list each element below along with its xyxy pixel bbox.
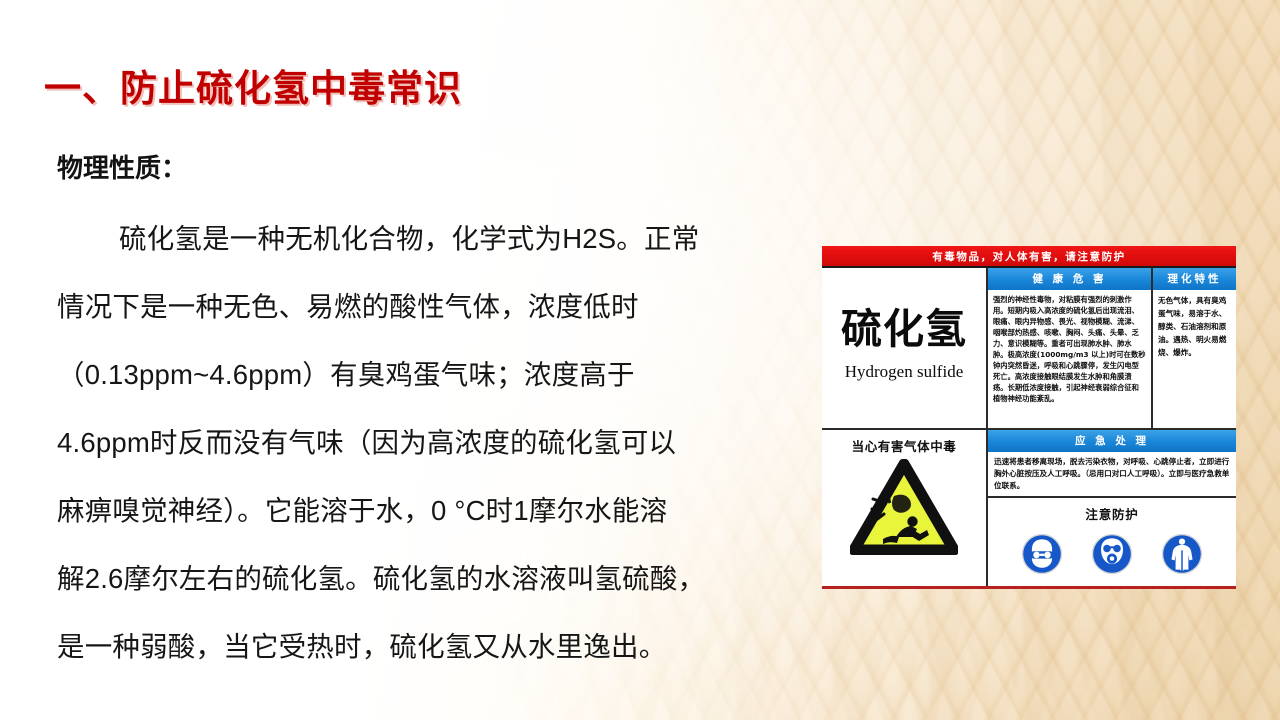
- health-hazard-cell: 健 康 危 害 强烈的神经性毒物，对粘膜有强烈的刺激作用。短期内吸入高浓度的硫化…: [988, 268, 1153, 428]
- presentation-slide: 一、防止硫化氢中毒常识 物理性质： 硫化氢是一种无机化合物，化学式为H2S。正常…: [0, 0, 1280, 720]
- protective-suit-icon: [1160, 532, 1204, 576]
- goggles-icon: [1020, 532, 1064, 576]
- paragraph-line: 麻痹嗅觉神经）。它能溶于水，0 °C时1摩尔水能溶: [57, 477, 817, 545]
- physical-properties-header: 理化特性: [1153, 268, 1236, 290]
- paragraph-line: 硫化氢是一种无机化合物，化学式为H2S。正常: [57, 205, 817, 273]
- physical-properties-cell: 理化特性 无色气体，具有臭鸡蛋气味，易溶于水、醇类、石油溶剂和原油。遇热、明火易…: [1153, 268, 1236, 428]
- paragraph-line: 情况下是一种无色、易燃的酸性气体，浓度低时: [57, 273, 817, 341]
- protection-block: 注意防护: [988, 498, 1236, 586]
- protection-title: 注意防护: [1085, 504, 1138, 523]
- health-hazard-text: 强烈的神经性毒物，对粘膜有强烈的刺激作用。短期内吸入高浓度的硫化氢后出现流泪、眼…: [988, 290, 1151, 429]
- sign-info-row: 健 康 危 害 强烈的神经性毒物，对粘膜有强烈的刺激作用。短期内吸入高浓度的硫化…: [988, 268, 1236, 430]
- toxic-gas-warning-triangle-icon: [850, 459, 958, 555]
- protection-icons: [1020, 532, 1204, 576]
- emergency-text: 迅速将患者移离现场，脱去污染衣物，对呼吸、心跳停止者，立即进行胸外心脏按压及人工…: [988, 452, 1236, 499]
- substance-name-cn: 硫化氢: [841, 308, 967, 351]
- warning-label: 当心有害气体中毒: [852, 436, 957, 455]
- health-hazard-header: 健 康 危 害: [988, 268, 1151, 290]
- body-paragraph: 硫化氢是一种无机化合物，化学式为H2S。正常 情况下是一种无色、易燃的酸性气体，…: [57, 205, 817, 681]
- sign-left-column: 硫化氢 Hydrogen sulfide 当心有害气体中毒: [822, 268, 988, 586]
- paragraph-line: （0.13ppm~4.6ppm）有臭鸡蛋气味；浓度高于: [57, 341, 817, 409]
- substance-name-en: Hydrogen sulfide: [845, 362, 964, 382]
- paragraph-line: 是一种弱酸，当它受热时，硫化氢又从水里逸出。: [57, 613, 817, 681]
- paragraph-line: 解2.6摩尔左右的硫化氢。硫化氢的水溶液叫氢硫酸，: [57, 545, 817, 613]
- warning-cell: 当心有害气体中毒: [822, 430, 986, 586]
- page-title: 一、防止硫化氢中毒常识: [44, 58, 462, 112]
- sign-body: 硫化氢 Hydrogen sulfide 当心有害气体中毒: [822, 266, 1236, 586]
- sign-right-column: 健 康 危 害 强烈的神经性毒物，对粘膜有强烈的刺激作用。短期内吸入高浓度的硫化…: [988, 268, 1236, 586]
- gas-mask-icon: [1090, 532, 1134, 576]
- hydrogen-sulfide-safety-sign: 有毒物品，对人体有害，请注意防护 硫化氢 Hydrogen sulfide 当心…: [822, 246, 1236, 589]
- physical-properties-text: 无色气体，具有臭鸡蛋气味，易溶于水、醇类、石油溶剂和原油。遇热、明火易燃烧、爆炸…: [1153, 290, 1236, 429]
- sign-banner: 有毒物品，对人体有害，请注意防护: [822, 246, 1236, 266]
- section-subheading: 物理性质：: [57, 148, 187, 185]
- sign-emergency-row: 应 急 处 理 迅速将患者移离现场，脱去污染衣物，对呼吸、心跳停止者，立即进行胸…: [988, 430, 1236, 586]
- paragraph-line: 4.6ppm时反而没有气味（因为高浓度的硫化氢可以: [57, 409, 817, 477]
- substance-name-cell: 硫化氢 Hydrogen sulfide: [822, 268, 986, 430]
- emergency-header: 应 急 处 理: [988, 430, 1236, 452]
